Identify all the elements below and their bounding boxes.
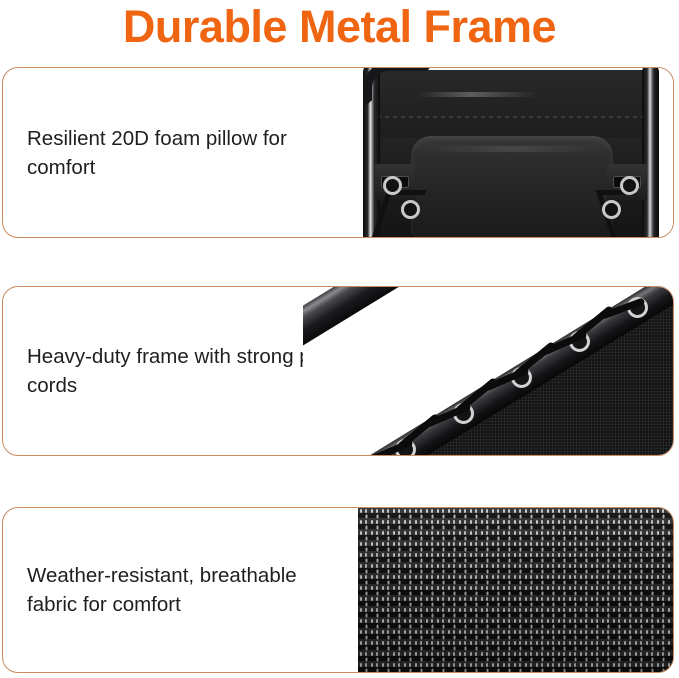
foam-pillow (411, 136, 613, 237)
frame-photo (303, 287, 673, 455)
feature-text-fabric: Weather-resistant, breathable fabric for… (27, 561, 347, 619)
feature-card-fabric: Weather-resistant, breathable fabric for… (2, 507, 674, 673)
fabric-shading (358, 508, 673, 672)
feature-text-frame: Heavy-duty frame with strong pull cords (27, 342, 347, 400)
feature-image-pillow (353, 68, 673, 237)
grommet-icon (383, 176, 402, 195)
frame-tube-right (642, 68, 659, 237)
grommet-icon (602, 200, 621, 219)
feature-text-pillow: Resilient 20D foam pillow for comfort (27, 124, 347, 182)
page-title: Durable Metal Frame (0, 0, 679, 58)
feature-card-frame: Heavy-duty frame with strong pull cords (2, 286, 674, 456)
pull-cord-lacing (303, 287, 673, 455)
frame-tube-left-bend (363, 68, 435, 108)
feature-card-pillow: Resilient 20D foam pillow for comfort (2, 67, 674, 238)
fabric-highlight (417, 92, 537, 97)
grommet-icon (401, 200, 420, 219)
feature-image-frame (303, 287, 673, 455)
pillow-photo (353, 68, 673, 237)
fabric-photo (358, 508, 673, 672)
feature-image-fabric (358, 508, 673, 672)
grommet-icon (620, 176, 639, 195)
